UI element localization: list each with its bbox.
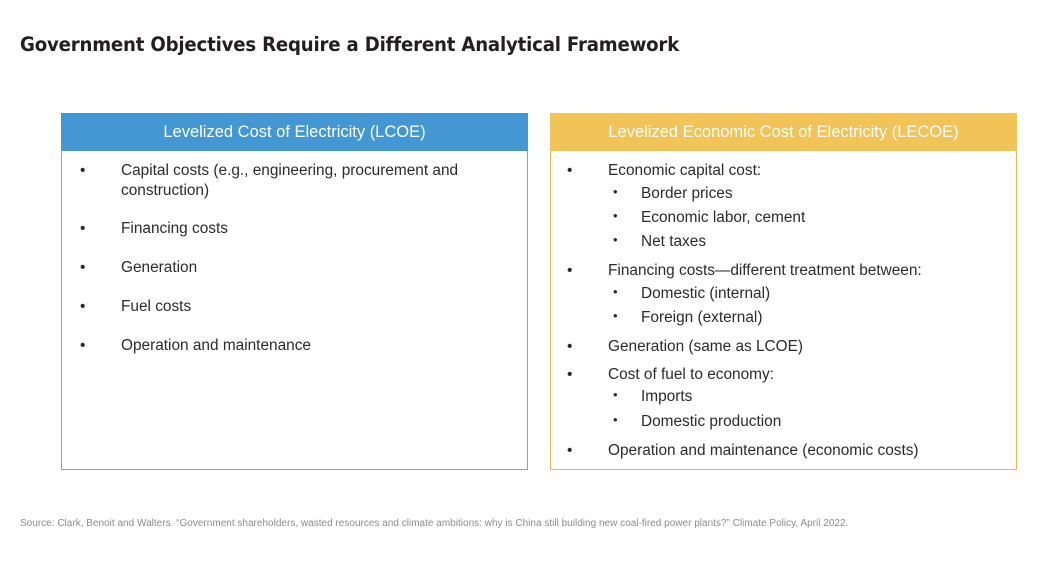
sub-list-item-label: Foreign (external) xyxy=(641,309,762,326)
list-item-label: Operation and maintenance (economic cost… xyxy=(608,441,1004,461)
list-item-label: Cost of fuel to economy: xyxy=(608,365,1004,385)
lecoe-bullet-list: • Economic capital cost: • Border prices… xyxy=(563,161,1004,460)
bullet-icon: • xyxy=(613,230,618,250)
bullet-icon: • xyxy=(567,161,572,181)
sub-list-item-label: Domestic (internal) xyxy=(641,285,770,302)
lcoe-bullet-list: • Capital costs (e.g., engineering, proc… xyxy=(74,161,515,355)
list-item-label: Generation xyxy=(121,258,515,278)
bullet-icon: • xyxy=(80,161,85,181)
bullet-icon: • xyxy=(613,282,618,302)
sub-list-item-label: Economic labor, cement xyxy=(641,209,805,226)
list-item: • Cost of fuel to economy: • Imports • D… xyxy=(563,365,1004,433)
list-item: • Operation and maintenance (economic co… xyxy=(563,441,1004,461)
panel-lcoe-body: • Capital costs (e.g., engineering, proc… xyxy=(61,151,528,470)
bullet-icon: • xyxy=(613,182,618,202)
bullet-icon: • xyxy=(613,206,618,226)
list-item-label: Operation and maintenance xyxy=(121,336,515,356)
sub-list-item-label: Net taxes xyxy=(641,233,706,250)
bullet-icon: • xyxy=(567,337,572,357)
sub-list-item: • Economic labor, cement xyxy=(608,206,1004,229)
list-item: • Operation and maintenance xyxy=(74,336,515,356)
sub-list-item-label: Imports xyxy=(641,388,692,405)
panel-lcoe: Levelized Cost of Electricity (LCOE) • C… xyxy=(61,113,528,470)
bullet-icon: • xyxy=(613,410,618,430)
bullet-icon: • xyxy=(80,336,85,356)
bullet-icon: • xyxy=(567,261,572,281)
sub-list-item: • Domestic production xyxy=(608,410,1004,433)
bullet-icon: • xyxy=(613,306,618,326)
list-item: • Generation xyxy=(74,258,515,278)
list-item: • Fuel costs xyxy=(74,297,515,317)
panel-lecoe-body: • Economic capital cost: • Border prices… xyxy=(550,151,1017,470)
list-item: • Economic capital cost: • Border prices… xyxy=(563,161,1004,253)
sub-list-item: • Domestic (internal) xyxy=(608,282,1004,305)
sub-list-item: • Border prices xyxy=(608,182,1004,205)
source-note: Source: Clark, Benoit and Walters. “Gove… xyxy=(20,518,848,529)
list-item: • Financing costs—different treatment be… xyxy=(563,261,1004,329)
sub-list: • Domestic (internal) • Foreign (externa… xyxy=(608,282,1004,329)
sub-list-item-label: Border prices xyxy=(641,185,733,202)
list-item-label: Capital costs (e.g., engineering, procur… xyxy=(121,161,515,200)
panel-lcoe-header: Levelized Cost of Electricity (LCOE) xyxy=(61,113,528,151)
list-item-label: Economic capital cost: xyxy=(608,161,1004,181)
list-item: • Financing costs xyxy=(74,219,515,239)
list-item-label: Financing costs—different treatment betw… xyxy=(608,261,1004,281)
list-item-label: Generation (same as LCOE) xyxy=(608,337,1004,357)
bullet-icon: • xyxy=(613,385,618,405)
bullet-icon: • xyxy=(567,365,572,385)
list-item: • Capital costs (e.g., engineering, proc… xyxy=(74,161,515,200)
sub-list: • Border prices • Economic labor, cement… xyxy=(608,182,1004,253)
panel-lecoe-header: Levelized Economic Cost of Electricity (… xyxy=(550,113,1017,151)
page-title: Government Objectives Require a Differen… xyxy=(20,33,679,56)
list-item-label: Fuel costs xyxy=(121,297,515,317)
list-item-label: Financing costs xyxy=(121,219,515,239)
panel-lecoe: Levelized Economic Cost of Electricity (… xyxy=(550,113,1017,470)
bullet-icon: • xyxy=(567,441,572,461)
bullet-icon: • xyxy=(80,219,85,239)
sub-list: • Imports • Domestic production xyxy=(608,385,1004,432)
sub-list-item: • Foreign (external) xyxy=(608,306,1004,329)
sub-list-item: • Imports xyxy=(608,385,1004,408)
sub-list-item-label: Domestic production xyxy=(641,413,781,430)
bullet-icon: • xyxy=(80,258,85,278)
list-item: • Generation (same as LCOE) xyxy=(563,337,1004,357)
sub-list-item: • Net taxes xyxy=(608,230,1004,253)
bullet-icon: • xyxy=(80,297,85,317)
